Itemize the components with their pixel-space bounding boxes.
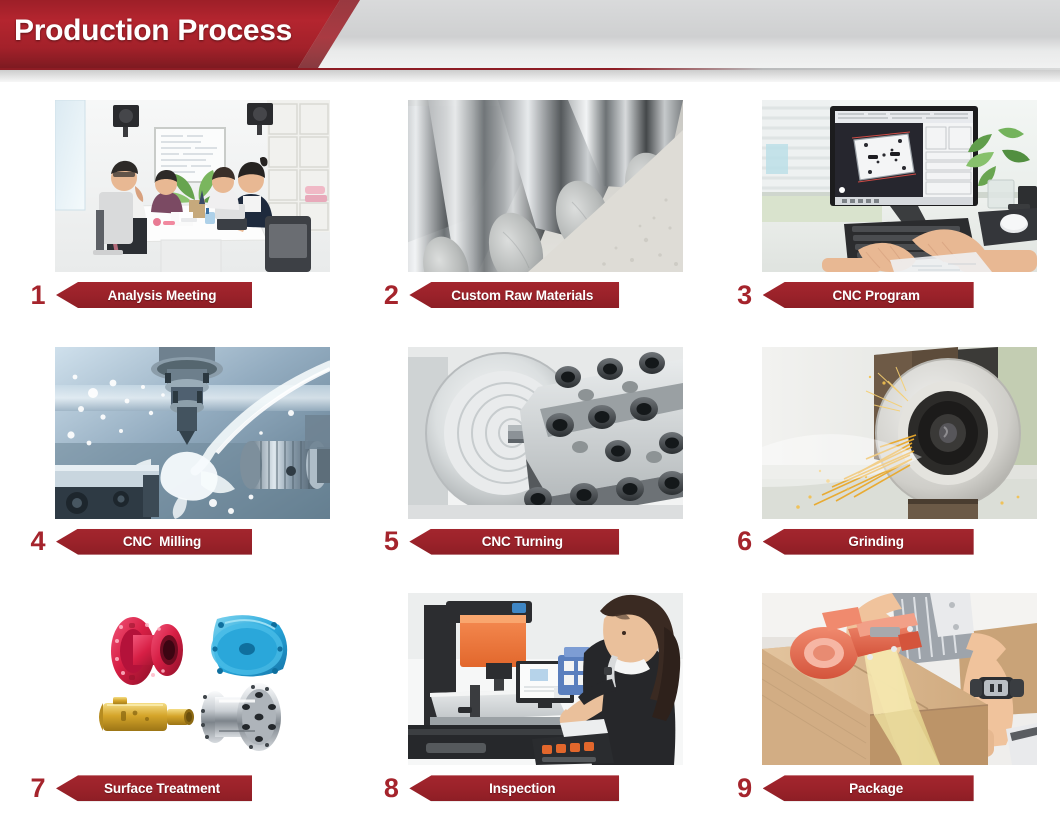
step-label-badge[interactable]: Package [763, 775, 974, 801]
step-label-row: 6 Grinding [727, 525, 1060, 559]
process-step-2: 2 Custom Raw Materials [353, 82, 706, 329]
step-number: 3 [727, 282, 763, 309]
process-step-4: 4 CNC Milling [0, 329, 353, 576]
process-step-1: 1 Analysis Meeting [0, 82, 353, 329]
step-label-badge[interactable]: Custom Raw Materials [409, 282, 619, 308]
step-number: 2 [373, 282, 409, 309]
step-label-badge[interactable]: CNC Turning [409, 529, 619, 555]
step-label-row: 4 CNC Milling [20, 525, 370, 559]
page-header-banner: Production Process [0, 0, 1060, 82]
custom-raw-materials-photo [408, 100, 683, 272]
process-step-5: 5 CNC Turning [353, 329, 706, 576]
step-label-text: CNC Program [832, 288, 919, 303]
package-photo [762, 593, 1037, 765]
analysis-meeting-photo [55, 100, 330, 272]
step-label-badge[interactable]: CNC Program [763, 282, 974, 308]
inspection-photo [408, 593, 683, 765]
surface-treatment-photo [55, 593, 330, 765]
step-label-text: CNC Turning [482, 534, 563, 549]
page-title: Production Process [14, 14, 292, 48]
step-number: 8 [373, 775, 409, 802]
step-label-text: CNC Milling [123, 534, 201, 549]
step-number: 4 [20, 528, 56, 555]
step-number: 1 [20, 282, 56, 309]
step-label-row: 7 Surface Treatment [20, 771, 370, 805]
step-number: 6 [727, 528, 763, 555]
step-label-badge[interactable]: Surface Treatment [56, 775, 252, 801]
step-label-text: Custom Raw Materials [451, 288, 593, 303]
banner-shadow [0, 70, 1060, 82]
step-label-row: 3 CNC Program [727, 278, 1060, 312]
step-number: 9 [727, 775, 763, 802]
process-step-6: 6 Grinding [707, 329, 1060, 576]
production-process-grid: 1 Analysis Meeting [0, 82, 1060, 822]
step-number: 5 [373, 528, 409, 555]
cnc-program-photo [762, 100, 1037, 272]
cnc-turning-photo [408, 347, 683, 519]
step-label-badge[interactable]: Inspection [409, 775, 619, 801]
process-step-8: 8 Inspection [353, 575, 706, 822]
step-label-text: Analysis Meeting [108, 288, 217, 303]
step-label-row: 2 Custom Raw Materials [373, 278, 723, 312]
step-label-row: 8 Inspection [373, 771, 723, 805]
step-label-text: Surface Treatment [104, 781, 220, 796]
step-label-row: 9 Package [727, 771, 1060, 805]
step-label-badge[interactable]: Grinding [763, 529, 974, 555]
cnc-milling-photo [55, 347, 330, 519]
process-step-3: 3 CNC Program [707, 82, 1060, 329]
process-step-9: 9 Package [707, 575, 1060, 822]
step-label-row: 5 CNC Turning [373, 525, 723, 559]
step-label-text: Inspection [489, 781, 556, 796]
step-label-text: Package [849, 781, 903, 796]
step-label-badge[interactable]: Analysis Meeting [56, 282, 252, 308]
step-label-text: Grinding [848, 534, 903, 549]
step-label-row: 1 Analysis Meeting [20, 278, 370, 312]
grinding-photo [762, 347, 1037, 519]
process-step-7: 7 Surface Treatment [0, 575, 353, 822]
step-label-badge[interactable]: CNC Milling [56, 529, 252, 555]
step-number: 7 [20, 775, 56, 802]
